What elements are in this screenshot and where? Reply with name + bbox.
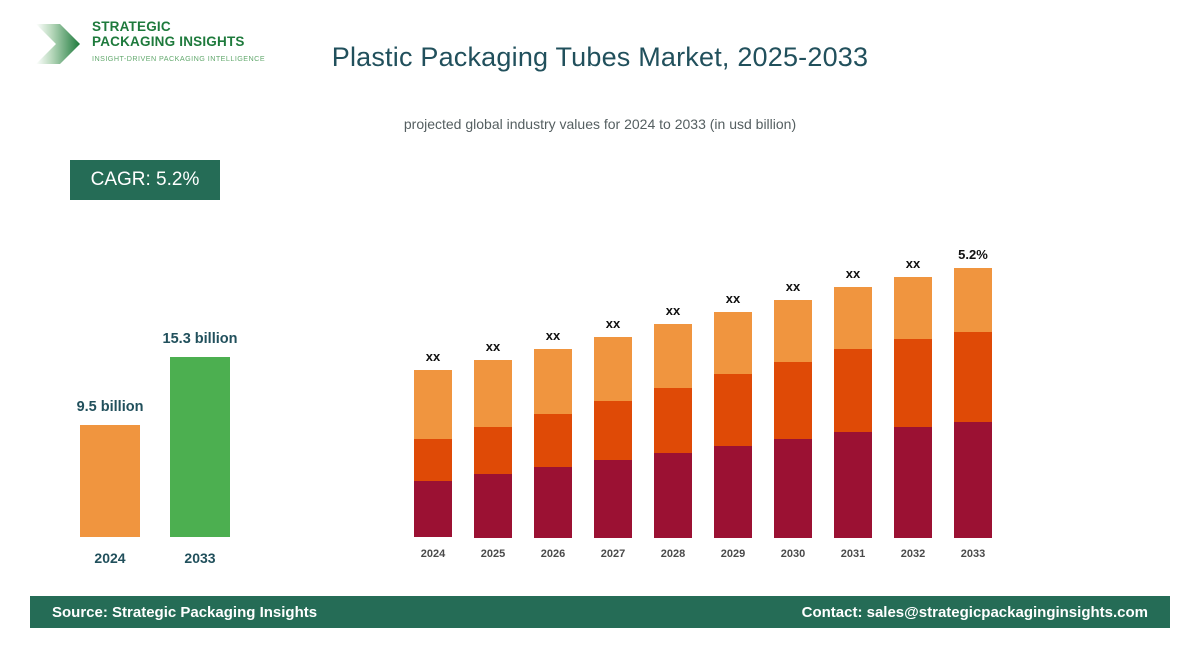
stacked-bar xyxy=(954,268,992,538)
stacked-bar xyxy=(594,337,632,538)
bar-value-label: xx xyxy=(883,256,943,271)
bar-segment-segment-middle xyxy=(714,374,752,446)
stacked-bar-chart: xx2024xx2025xx2026xx2027xx2028xx2029xx20… xyxy=(400,200,1040,560)
stacked-bar xyxy=(834,287,872,538)
bar-segment-segment-bottom xyxy=(594,460,632,538)
stacked-bar xyxy=(474,360,512,538)
comparison-chart: 9.5 billion 2024 15.3 billion 2033 xyxy=(40,300,300,570)
bar-segment-segment-top xyxy=(534,349,572,414)
bar-segment-segment-middle xyxy=(834,349,872,432)
bar-segment-segment-middle xyxy=(474,427,512,475)
x-axis-tick-label: 2027 xyxy=(587,548,639,560)
x-axis-tick-label: 2033 xyxy=(947,548,999,560)
x-axis-tick-label: 2024 xyxy=(407,548,459,560)
x-axis-tick-label: 2030 xyxy=(767,548,819,560)
bar-segment-segment-middle xyxy=(534,414,572,467)
cagr-badge: CAGR: 5.2% xyxy=(70,160,220,200)
bar-segment-segment-top xyxy=(594,337,632,401)
x-axis-tick-label: 2026 xyxy=(527,548,579,560)
stacked-bar xyxy=(774,300,812,538)
stacked-bar xyxy=(534,349,572,538)
x-axis-tick-label: 2029 xyxy=(707,548,759,560)
bar-segment-segment-bottom xyxy=(474,474,512,538)
x-axis-tick-label: 2031 xyxy=(827,548,879,560)
bar-segment-segment-top xyxy=(954,268,992,332)
footer-source: Source: Strategic Packaging Insights xyxy=(52,604,317,621)
bar-segment-segment-bottom xyxy=(534,467,572,538)
stacked-bar xyxy=(654,324,692,538)
bar-value-label: xx xyxy=(463,339,523,354)
stacked-bar xyxy=(714,312,752,538)
bar-segment-segment-bottom xyxy=(834,432,872,538)
bar-segment-segment-top xyxy=(474,360,512,427)
bar-value-label: 5.2% xyxy=(943,247,1003,262)
bar-value-label: xx xyxy=(583,316,643,331)
footer-contact: Contact: sales@strategicpackaginginsight… xyxy=(802,604,1148,621)
stacked-bar xyxy=(894,277,932,538)
bar-value-label: xx xyxy=(703,291,763,306)
stacked-bar xyxy=(414,370,452,538)
chart-page: STRATEGIC PACKAGING INSIGHTS INSIGHT-DRI… xyxy=(0,0,1200,650)
page-subtitle: projected global industry values for 202… xyxy=(0,116,1200,132)
comparison-start-year: 2024 xyxy=(80,550,140,566)
bar-segment-segment-top xyxy=(714,312,752,374)
bar-segment-segment-bottom xyxy=(774,439,812,538)
bar-segment-segment-bottom xyxy=(954,422,992,538)
comparison-start-bar xyxy=(80,425,140,537)
bar-segment-segment-middle xyxy=(414,439,452,481)
x-axis-tick-label: 2028 xyxy=(647,548,699,560)
bar-segment-segment-top xyxy=(654,324,692,388)
bar-segment-segment-middle xyxy=(954,332,992,422)
comparison-end-value-label: 15.3 billion xyxy=(135,331,265,347)
footer-bar: Source: Strategic Packaging Insights Con… xyxy=(30,596,1170,628)
bar-segment-segment-middle xyxy=(894,339,932,427)
bar-segment-segment-top xyxy=(834,287,872,349)
bar-segment-segment-middle xyxy=(654,388,692,453)
bar-segment-segment-bottom xyxy=(714,446,752,538)
bar-value-label: xx xyxy=(823,266,883,281)
bar-segment-segment-bottom xyxy=(414,481,452,537)
bar-value-label: xx xyxy=(763,279,823,294)
bar-segment-segment-middle xyxy=(594,401,632,461)
bar-segment-segment-middle xyxy=(774,362,812,440)
bar-segment-segment-bottom xyxy=(894,427,932,538)
comparison-end-bar xyxy=(170,357,230,537)
bar-value-label: xx xyxy=(403,349,463,364)
bar-segment-segment-top xyxy=(774,300,812,362)
bar-segment-segment-bottom xyxy=(654,453,692,538)
comparison-start-value-label: 9.5 billion xyxy=(45,399,175,415)
bar-value-label: xx xyxy=(643,303,703,318)
page-title: Plastic Packaging Tubes Market, 2025-203… xyxy=(0,42,1200,73)
comparison-end-year: 2033 xyxy=(170,550,230,566)
bar-value-label: xx xyxy=(523,328,583,343)
bar-segment-segment-top xyxy=(894,277,932,339)
x-axis-tick-label: 2025 xyxy=(467,548,519,560)
x-axis-tick-label: 2032 xyxy=(887,548,939,560)
bar-segment-segment-top xyxy=(414,370,452,439)
logo-line-1: STRATEGIC xyxy=(92,20,265,35)
